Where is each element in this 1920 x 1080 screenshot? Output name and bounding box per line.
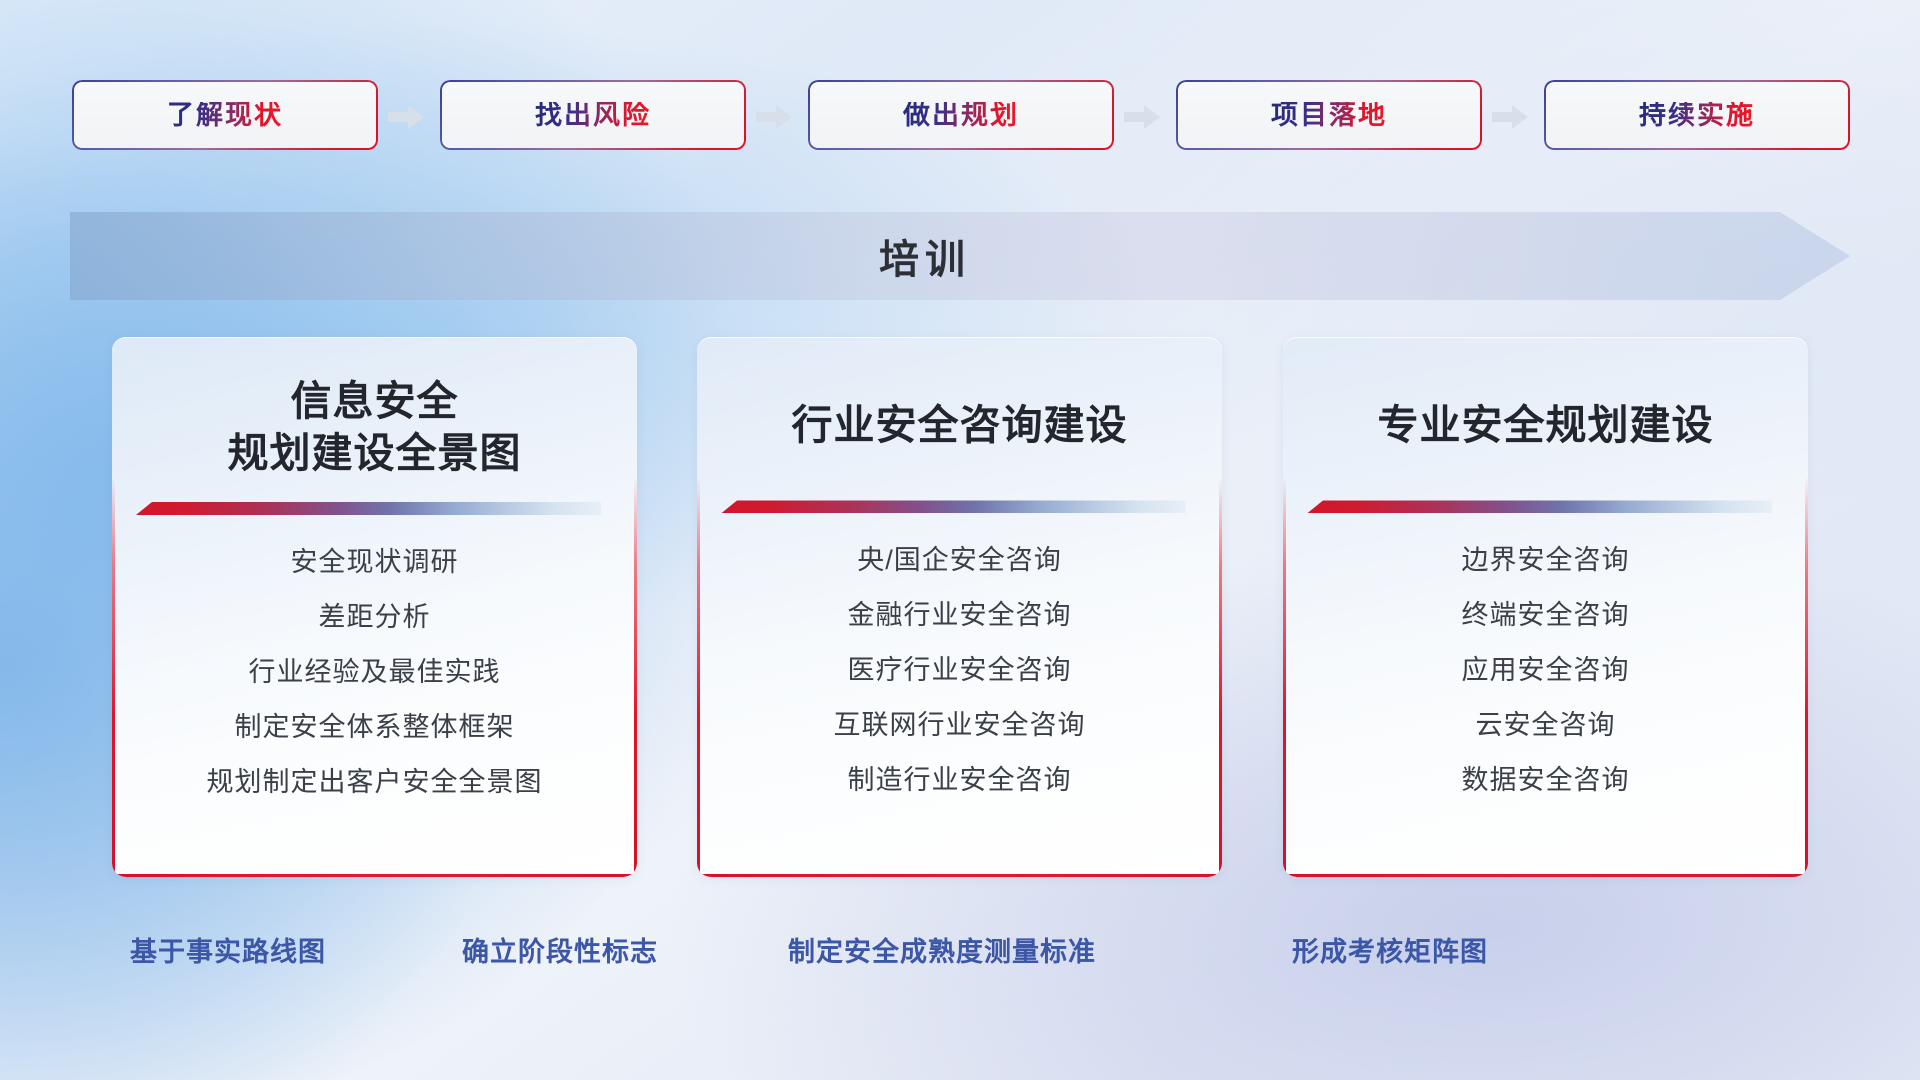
step-box-1-inner: 了解现状 (74, 82, 376, 148)
footer-label-4: 形成考核矩阵图 (1292, 930, 1488, 969)
list-item: 边界安全咨询 (1305, 547, 1786, 574)
list-item: 医疗行业安全咨询 (719, 657, 1200, 684)
chevron-arrow-icon-1 (388, 105, 424, 129)
list-item: 安全现状调研 (134, 549, 615, 576)
list-item: 制定安全体系整体框架 (134, 714, 615, 741)
card-3-bottom-accent (1283, 874, 1808, 877)
list-item: 规划制定出客户安全全景图 (134, 769, 615, 796)
step-box-1[interactable]: 了解现状 (72, 80, 378, 150)
card-1-title: 信息安全 规划建设全景图 (112, 337, 637, 480)
card-2-bottom-accent (697, 874, 1222, 877)
step-box-5-inner: 持续实施 (1546, 82, 1848, 148)
step-box-4-inner: 项目落地 (1178, 82, 1480, 148)
card-1-divider (136, 502, 601, 515)
card-3-list: 边界安全咨询 终端安全咨询 应用安全咨询 云安全咨询 数据安全咨询 (1283, 513, 1808, 794)
training-band-label: 培训 (70, 212, 1850, 300)
chevron-arrow-icon-2 (756, 105, 792, 129)
process-step-row: 了解现状 找出风险 做出规划 项目落地 (0, 0, 1920, 160)
footer-label-3: 制定安全成熟度测量标准 (788, 930, 1096, 969)
list-item: 应用安全咨询 (1305, 657, 1786, 684)
list-item: 数据安全咨询 (1305, 767, 1786, 794)
step-box-5[interactable]: 持续实施 (1544, 80, 1850, 150)
chevron-arrow-icon-4 (1492, 105, 1528, 129)
training-band: 培训 (70, 212, 1850, 300)
footer-label-2: 确立阶段性标志 (462, 930, 658, 969)
list-item: 行业经验及最佳实践 (134, 659, 615, 686)
list-item: 制造行业安全咨询 (719, 767, 1200, 794)
list-item: 云安全咨询 (1305, 712, 1786, 739)
chevron-arrow-icon-3 (1124, 105, 1160, 129)
footer-label-1: 基于事实路线图 (130, 930, 326, 969)
capability-card-2[interactable]: 行业安全咨询建设 央/国企安全咨询 金融行业安全咨询 医疗行业安全咨询 互联网行… (697, 337, 1222, 877)
slide-canvas: 了解现状 找出风险 做出规划 项目落地 (0, 0, 1920, 1080)
capability-card-1[interactable]: 信息安全 规划建设全景图 安全现状调研 差距分析 行业经验及最佳实践 制定安全体… (112, 337, 637, 877)
list-item: 差距分析 (134, 604, 615, 631)
step-box-3-inner: 做出规划 (810, 82, 1112, 148)
step-label-1: 了解现状 (167, 102, 283, 129)
card-3-title: 专业安全规划建设 (1283, 337, 1808, 451)
step-label-5: 持续实施 (1639, 102, 1755, 129)
card-2-title: 行业安全咨询建设 (697, 337, 1222, 451)
capability-card-3[interactable]: 专业安全规划建设 边界安全咨询 终端安全咨询 应用安全咨询 云安全咨询 数据安全… (1283, 337, 1808, 877)
card-1-bottom-accent (112, 874, 637, 877)
step-box-2[interactable]: 找出风险 (440, 80, 746, 150)
step-box-3[interactable]: 做出规划 (808, 80, 1114, 150)
card-2-divider (721, 500, 1186, 513)
step-box-4[interactable]: 项目落地 (1176, 80, 1482, 150)
card-2-list: 央/国企安全咨询 金融行业安全咨询 医疗行业安全咨询 互联网行业安全咨询 制造行… (697, 513, 1222, 794)
step-label-3: 做出规划 (903, 102, 1019, 129)
list-item: 金融行业安全咨询 (719, 602, 1200, 629)
card-1-list: 安全现状调研 差距分析 行业经验及最佳实践 制定安全体系整体框架 规划制定出客户… (112, 515, 637, 796)
list-item: 央/国企安全咨询 (719, 547, 1200, 574)
list-item: 终端安全咨询 (1305, 602, 1786, 629)
step-box-2-inner: 找出风险 (442, 82, 744, 148)
step-label-4: 项目落地 (1271, 102, 1387, 129)
list-item: 互联网行业安全咨询 (719, 712, 1200, 739)
card-3-divider (1307, 500, 1772, 513)
step-label-2: 找出风险 (535, 102, 651, 129)
